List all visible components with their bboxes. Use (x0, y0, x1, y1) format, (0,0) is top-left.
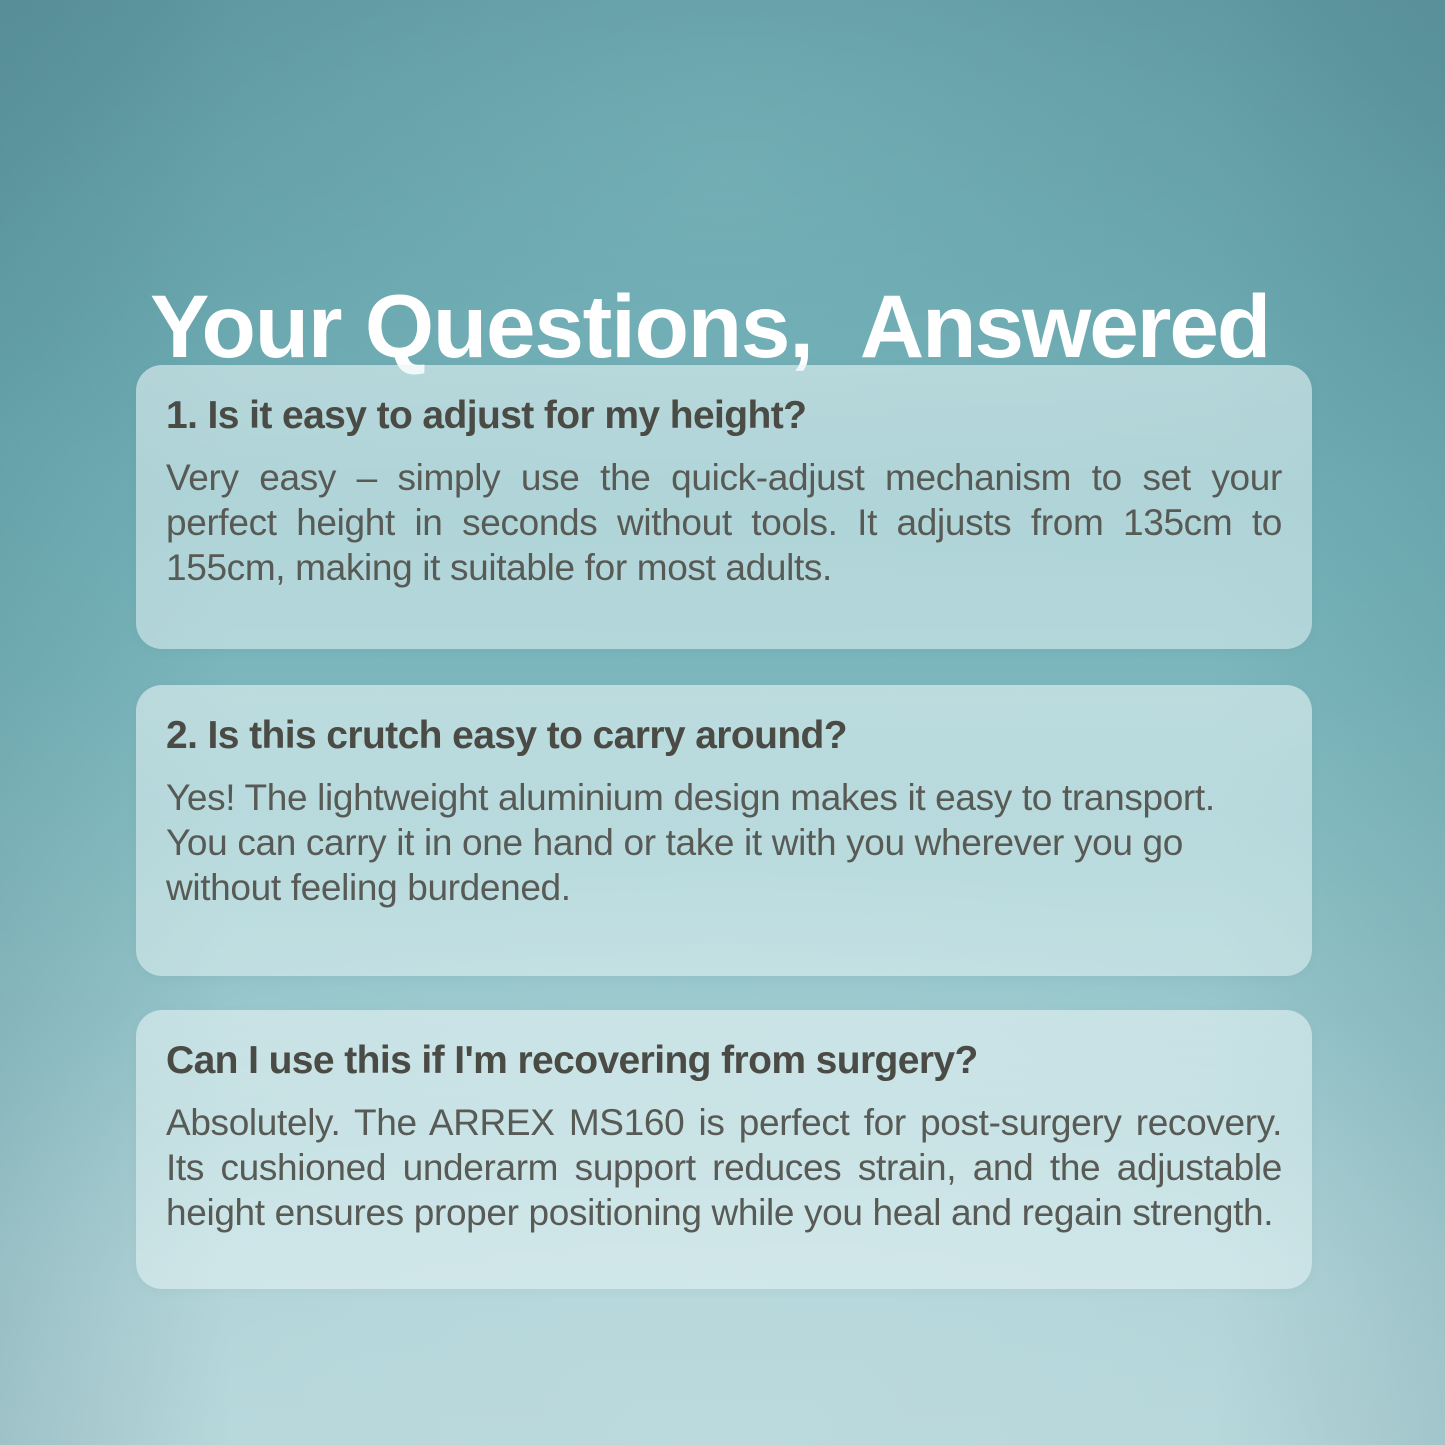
faq-question-2: 2. Is this crutch easy to carry around? (166, 713, 1282, 759)
faq-question-1: 1. Is it easy to adjust for my height? (166, 393, 1282, 439)
faq-answer-3: Absolutely. The ARREX MS160 is perfect f… (166, 1100, 1282, 1235)
faq-card-2[interactable]: 2. Is this crutch easy to carry around? … (136, 685, 1312, 976)
page-title: Your Questions, Answered (150, 278, 1310, 374)
page-title-bold: Answered (860, 276, 1269, 376)
faq-answer-1: Very easy – simply use the quick-adjust … (166, 455, 1282, 590)
faq-question-3: Can I use this if I'm recovering from su… (166, 1038, 1282, 1084)
faq-card-3[interactable]: Can I use this if I'm recovering from su… (136, 1010, 1312, 1289)
faq-card-1[interactable]: 1. Is it easy to adjust for my height? V… (136, 365, 1312, 649)
page-title-light: Your Questions, (150, 276, 813, 376)
faq-answer-2: Yes! The lightweight aluminium design ma… (166, 775, 1282, 910)
faq-page: Your Questions, Answered 1. Is it easy t… (0, 0, 1445, 1445)
